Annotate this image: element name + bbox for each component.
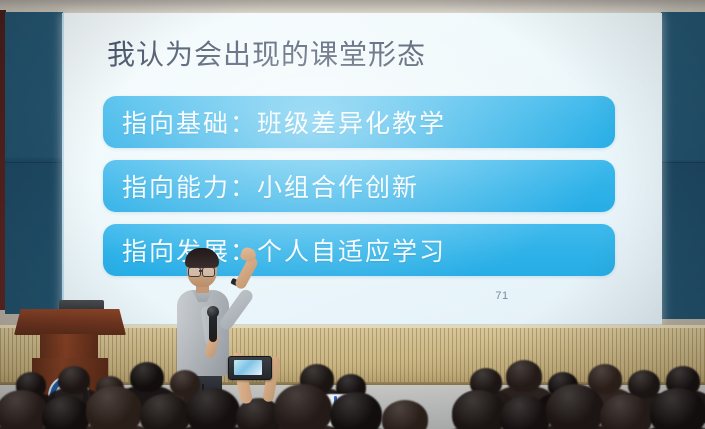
audience-head — [382, 400, 428, 429]
eyeglasses-icon — [188, 267, 201, 277]
audience-head — [186, 388, 240, 429]
podium-desktop — [14, 309, 126, 335]
slide-title: 我认为会出现的课堂形态 — [107, 38, 577, 72]
smartphone-camera-icon — [228, 356, 272, 380]
audience-head — [330, 392, 382, 429]
eyeglasses-bridge — [199, 270, 202, 272]
audience-head — [274, 384, 332, 429]
microphone-capsule — [207, 306, 219, 318]
wall-panel-right — [661, 12, 705, 319]
audience-head — [0, 390, 48, 429]
audience-head — [650, 388, 705, 429]
slide-bar-item: 指向基础：班级差异化教学 — [103, 96, 615, 148]
ceiling-band — [0, 0, 705, 14]
audience-head — [546, 384, 604, 429]
screen-edge-left — [62, 13, 64, 326]
audience-head — [130, 362, 164, 392]
audience-head — [58, 366, 90, 394]
audience-head — [86, 386, 142, 429]
phone-screen — [234, 360, 262, 375]
presenter-hair — [185, 248, 219, 268]
slide-bar-label: 指向基础：班级差异化教学 — [103, 104, 446, 140]
audience-rows — [0, 350, 705, 429]
audience-head — [140, 394, 190, 429]
audience-head — [42, 396, 90, 429]
wall-panel-left — [5, 12, 63, 314]
lecture-hall-photo: 我认为会出现的课堂形态 指向基础：班级差异化教学 指向能力：小组合作创新 指向发… — [0, 0, 705, 429]
slide-bar-item: 指向能力：小组合作创新 — [103, 160, 615, 212]
slide-bar-label: 指向能力：小组合作创新 — [103, 168, 419, 204]
slide-page-number: 71 — [482, 290, 522, 302]
audience-head — [452, 390, 506, 429]
slide-bar-label: 指向发展：个人自适应学习 — [103, 232, 446, 268]
audience-head — [506, 360, 542, 392]
projection-screen: 我认为会出现的课堂形态 指向基础：班级差异化教学 指向能力：小组合作创新 指向发… — [62, 13, 662, 326]
eyeglasses-icon — [202, 267, 215, 277]
